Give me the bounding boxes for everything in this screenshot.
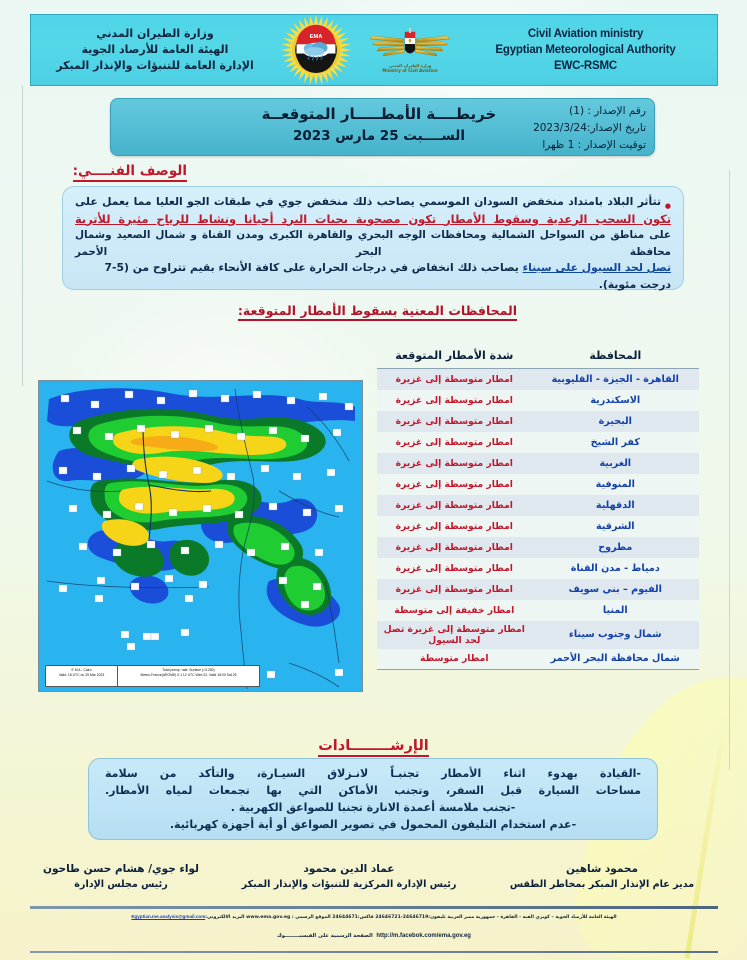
cell-province: المنوفية — [532, 474, 699, 495]
precipitation-forecast-map[interactable]: E M A - Cairo Valid: 18 UTC on 25 Mar 20… — [38, 380, 363, 692]
signature-block: محمود شاهين مدير عام الإنذار المبكر بمخا… — [26, 862, 722, 892]
table-row: الغربيةامطار متوسطة إلى غزيرة — [377, 453, 699, 474]
signature-1-name: محمود شاهين — [482, 862, 722, 877]
signature-2-role: رئيس الإدارة المركزية للتنبؤات والإنذار … — [222, 877, 477, 892]
cell-intensity: امطار متوسطة إلى غزيرة — [377, 411, 532, 432]
table-row: شمال محافظة البحر الأحمرامطار متوسطة — [377, 649, 699, 670]
issue-number: رقم الإصدار : (1) — [508, 103, 646, 120]
cell-intensity: امطار متوسطة إلى غزيرة — [377, 537, 532, 558]
cell-intensity: امطار متوسطة إلى غزيرة تصل لحد السيول — [377, 621, 532, 649]
footer-facebook-line: http://m.facebok.com/ema.gov.eg الصفحة ا… — [30, 930, 718, 942]
map-caption-right: Total precip. rate: Surface (>3.250) Met… — [118, 666, 259, 686]
page-title: خريطــــة الأمطـــــار المتوقعــة — [254, 105, 504, 123]
table-row: القاهرة - الجيزة - القليوبيةامطار متوسطة… — [377, 369, 699, 390]
decorative-right-rule — [729, 170, 730, 770]
provinces-heading: المحافظات المعنية بسقوط الأمطار المتوقعة… — [238, 303, 517, 321]
footer-address: الهيئة العامة للأرصاد الجوية – كوبري الق… — [205, 915, 616, 920]
guidance-heading-text: الإرشــــــــادات — [318, 738, 429, 757]
table-row: الاسكندريةامطار متوسطة إلى غزيرة — [377, 390, 699, 411]
technical-description-box: تتأثر البلاد بامتداد منخفض السودان الموس… — [62, 186, 684, 290]
guidance-heading: الإرشــــــــادات — [0, 738, 747, 758]
signature-1: محمود شاهين مدير عام الإنذار المبكر بمخا… — [482, 862, 722, 892]
signature-3: لواء جوي/ هشام حسن طاحون رئيس مجلس الإدا… — [26, 862, 216, 892]
cell-intensity: امطار متوسطة إلى غزيرة — [377, 495, 532, 516]
cell-province: كفر الشيخ — [532, 432, 699, 453]
cell-province: شمال وجنوب سيناء — [532, 621, 699, 649]
flood-warning-link: تصل لحد السيول على سيناء — [523, 261, 671, 274]
map-model-run: Meteo-France(AROME) 0.1 12 UTC Wed 22, V… — [120, 673, 257, 678]
header-en-line-3: EWC-RSMC — [468, 58, 703, 74]
signature-2: عماد الدين محمود رئيس الإدارة المركزية ل… — [222, 862, 477, 892]
table-row: المنياامطار خفيفة إلى متوسطة — [377, 600, 699, 621]
footer-facebook-label: الصفحة الرسمية على الفيسبــــــــوك — [277, 933, 373, 939]
decorative-left-rule — [22, 86, 23, 386]
issue-date: تاريخ الإصدار:2023/3/24 — [508, 120, 646, 137]
footer-contact-line: الهيئة العامة للأرصاد الجوية – كوبري الق… — [30, 912, 718, 922]
provinces-table: المحافظة شدة الأمطار المتوقعة القاهرة - … — [377, 345, 699, 670]
page-footer: الهيئة العامة للأرصاد الجوية – كوبري الق… — [30, 912, 718, 942]
cell-province: المنيا — [532, 600, 699, 621]
table-row: دمياط - مدن القناةامطار متوسطة إلى غزيرة — [377, 558, 699, 579]
footer-divider — [30, 951, 718, 953]
table-row: كفر الشيخامطار متوسطة إلى غزيرة — [377, 432, 699, 453]
guidance-line-1: -القيادة بهدوء اثناء الأمطار تجنبـاً لان… — [105, 765, 641, 782]
table-row: الشرقيةامطار متوسطة إلى غزيرة — [377, 516, 699, 537]
header-ar-line-1: وزارة الطيران المدني — [45, 26, 265, 42]
cell-province: الغربية — [532, 453, 699, 474]
cell-province: الدقهلية — [532, 495, 699, 516]
cell-intensity: امطار متوسطة إلى غزيرة — [377, 432, 532, 453]
signature-3-name: لواء جوي/ هشام حسن طاحون — [26, 862, 216, 877]
cell-province: الشرقية — [532, 516, 699, 537]
signature-2-name: عماد الدين محمود — [222, 862, 477, 877]
cell-intensity: امطار متوسطة إلى غزيرة — [377, 516, 532, 537]
cell-province: دمياط - مدن القناة — [532, 558, 699, 579]
cell-intensity: امطار متوسطة إلى غزيرة — [377, 558, 532, 579]
issue-time: توقيت الإصدار : 1 ظهرا — [508, 137, 646, 154]
table-header-row: المحافظة شدة الأمطار المتوقعة — [377, 345, 699, 369]
signature-3-role: رئيس مجلس الإدارة — [26, 877, 216, 892]
page-subtitle: الســــبت 25 مارس 2023 — [254, 128, 504, 144]
ema-logo-text: EMA — [310, 34, 323, 40]
cell-province: القاهرة - الجيزة - القليوبية — [532, 369, 699, 390]
description-line-3: على مناطق من السواحل الشمالية ومحافظات ا… — [75, 227, 671, 260]
description-line-1: تتأثر البلاد بامتداد منخفض السودان الموس… — [75, 194, 671, 211]
table-row: مطروحامطار متوسطة إلى غزيرة — [377, 537, 699, 558]
civil-aviation-logo-caption: وزارة الطيران المدني Ministry of Civil A… — [382, 63, 437, 73]
footer-facebook-url[interactable]: http://m.facebok.com/ema.gov.eg — [376, 930, 471, 942]
header-english-titles: Civil Aviation ministry Egyptian Meteoro… — [468, 26, 703, 74]
page-header: Civil Aviation ministry Egyptian Meteoro… — [30, 14, 718, 86]
header-arabic-titles: وزارة الطيران المدني الهيئة العامة للأرص… — [45, 26, 265, 74]
ca-caption-en: Ministry of Civil Aviation — [382, 68, 437, 73]
cell-intensity: امطار خفيفة إلى متوسطة — [377, 600, 532, 621]
guidance-box: -القيادة بهدوء اثناء الأمطار تجنبـاً لان… — [88, 758, 658, 840]
table-row: الفيوم – بني سويفامطار متوسطة إلى غزيرة — [377, 579, 699, 600]
cell-province: مطروح — [532, 537, 699, 558]
table-row: المنوفيةامطار متوسطة إلى غزيرة — [377, 474, 699, 495]
guidance-line-3: -تجنب ملامسة أعمدة الانارة تجنبا للصواعق… — [105, 799, 641, 816]
column-header-province: المحافظة — [532, 345, 699, 369]
description-line-4: تصل لحد السيول على سيناء يصاحب ذلك انخفا… — [75, 260, 671, 293]
cell-province: الفيوم – بني سويف — [532, 579, 699, 600]
cell-intensity: امطار متوسطة إلى غزيرة — [377, 369, 532, 390]
signature-divider — [30, 906, 718, 909]
guidance-line-2: مساحات السيارة قبل السفر، وتجنب الأماكن … — [105, 782, 641, 799]
civil-aviation-wings-logo: وزارة الطيران المدني Ministry of Civil A… — [367, 20, 453, 80]
cell-intensity: امطار متوسطة إلى غزيرة — [377, 474, 532, 495]
header-ar-line-3: الإدارة العامة للتنبؤات والإنذار المبكر — [45, 58, 265, 74]
header-ar-line-2: الهيئة العامة للأرصاد الجوية — [45, 42, 265, 58]
issue-metadata: رقم الإصدار : (1) تاريخ الإصدار:2023/3/2… — [508, 103, 650, 154]
header-en-line-2: Egyptian Meteorological Authority — [468, 42, 703, 58]
map-caption: E M A - Cairo Valid: 18 UTC on 25 Mar 20… — [45, 665, 260, 687]
map-caption-left: E M A - Cairo Valid: 18 UTC on 25 Mar 20… — [46, 666, 118, 686]
cell-intensity: امطار متوسطة إلى غزيرة — [377, 579, 532, 600]
ema-sunburst-logo: EMA — [280, 14, 352, 86]
description-line-2-highlight: تكون السحب الرعدية وسقوط الأمطار تكون مص… — [75, 211, 671, 228]
cell-province: شمال محافظة البحر الأحمر — [532, 649, 699, 670]
title-bar: خريطــــة الأمطـــــار المتوقعــة الســـ… — [110, 98, 655, 156]
table-row: شمال وجنوب سيناءامطار متوسطة إلى غزيرة ت… — [377, 621, 699, 649]
table-row: البحيرةامطار متوسطة إلى غزيرة — [377, 411, 699, 432]
cell-province: البحيرة — [532, 411, 699, 432]
cell-intensity: امطار متوسطة إلى غزيرة — [377, 390, 532, 411]
map-valid-time: Valid: 18 UTC on 25 Mar 2023 — [48, 673, 115, 678]
table-row: الدقهليةامطار متوسطة إلى غزيرة — [377, 495, 699, 516]
column-header-intensity: شدة الأمطار المتوقعة — [377, 345, 532, 369]
cell-intensity: امطار متوسطة إلى غزيرة — [377, 453, 532, 474]
bulletin-page: Civil Aviation ministry Egyptian Meteoro… — [0, 0, 747, 960]
footer-email-link[interactable]: Egyptian.me.analysis@gmail.com — [131, 912, 205, 921]
header-en-line-1: Civil Aviation ministry — [468, 26, 703, 42]
provinces-table-body: القاهرة - الجيزة - القليوبيةامطار متوسطة… — [377, 369, 699, 670]
cell-province: الاسكندرية — [532, 390, 699, 411]
technical-description-heading: الوصف الفنــــي: — [73, 163, 187, 182]
signature-1-role: مدير عام الإنذار المبكر بمخاطر الطقس — [482, 877, 722, 892]
cell-intensity: امطار متوسطة — [377, 649, 532, 670]
guidance-line-4: -عدم استخدام التليفون المحمول في تصوير ا… — [105, 816, 641, 833]
